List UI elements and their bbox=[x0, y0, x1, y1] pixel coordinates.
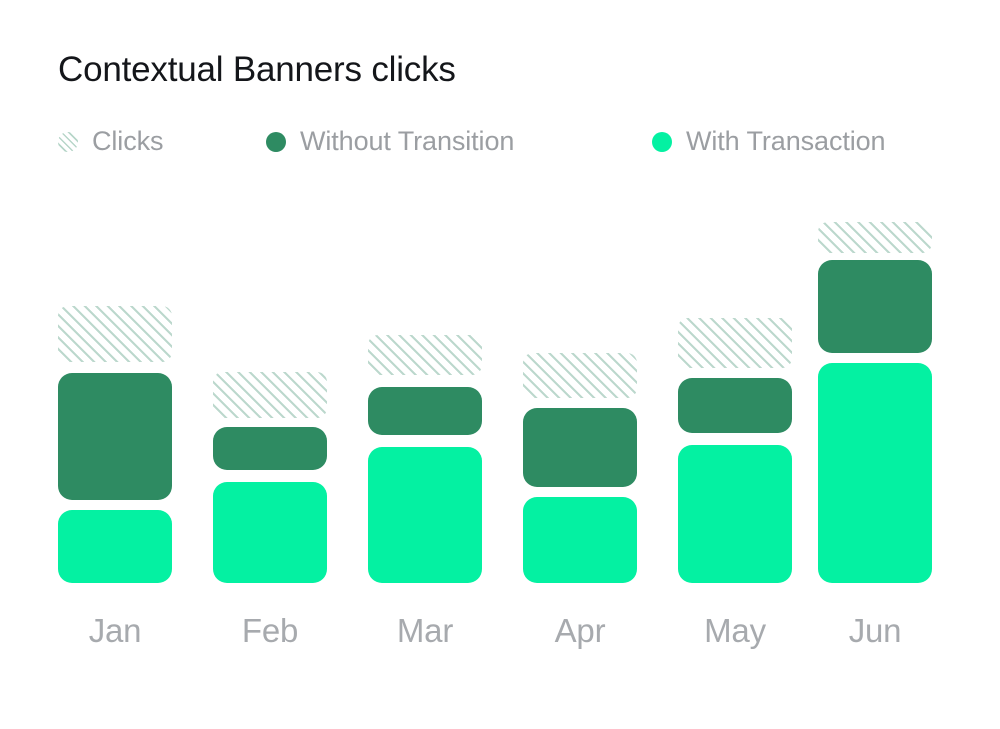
bar-segment-clicks[interactable] bbox=[213, 372, 327, 418]
bar-segment-without[interactable] bbox=[213, 427, 327, 470]
bar-segment-without[interactable] bbox=[368, 387, 482, 435]
bar-segment-with[interactable] bbox=[368, 447, 482, 583]
bar-group[interactable] bbox=[368, 0, 482, 583]
bar-segment-with[interactable] bbox=[213, 482, 327, 583]
bar-segment-clicks[interactable] bbox=[818, 222, 932, 253]
bar-group[interactable] bbox=[213, 0, 327, 583]
x-axis-label: Apr bbox=[523, 612, 637, 650]
bar-segment-without[interactable] bbox=[678, 378, 792, 433]
x-axis-label: Feb bbox=[213, 612, 327, 650]
bar-segment-clicks[interactable] bbox=[368, 335, 482, 375]
x-axis-label: Jun bbox=[818, 612, 932, 650]
chart-card: Contextual Banners clicks Clicks Without… bbox=[0, 0, 1000, 729]
bar-segment-with[interactable] bbox=[523, 497, 637, 583]
bar-segment-without[interactable] bbox=[58, 373, 172, 500]
bar-group[interactable] bbox=[523, 0, 637, 583]
bar-segment-without[interactable] bbox=[523, 408, 637, 487]
bar-segment-with[interactable] bbox=[58, 510, 172, 583]
bar-segment-clicks[interactable] bbox=[523, 353, 637, 398]
bar-segment-with[interactable] bbox=[818, 363, 932, 583]
bar-group[interactable] bbox=[818, 0, 932, 583]
x-axis-label: May bbox=[678, 612, 792, 650]
bar-segment-clicks[interactable] bbox=[58, 306, 172, 362]
bar-segment-clicks[interactable] bbox=[678, 318, 792, 368]
bar-group[interactable] bbox=[58, 0, 172, 583]
x-axis-label: Mar bbox=[368, 612, 482, 650]
plot-area: JanFebMarAprMayJun bbox=[0, 0, 1000, 729]
x-axis-label: Jan bbox=[58, 612, 172, 650]
bar-segment-without[interactable] bbox=[818, 260, 932, 353]
bar-segment-with[interactable] bbox=[678, 445, 792, 583]
bar-group[interactable] bbox=[678, 0, 792, 583]
